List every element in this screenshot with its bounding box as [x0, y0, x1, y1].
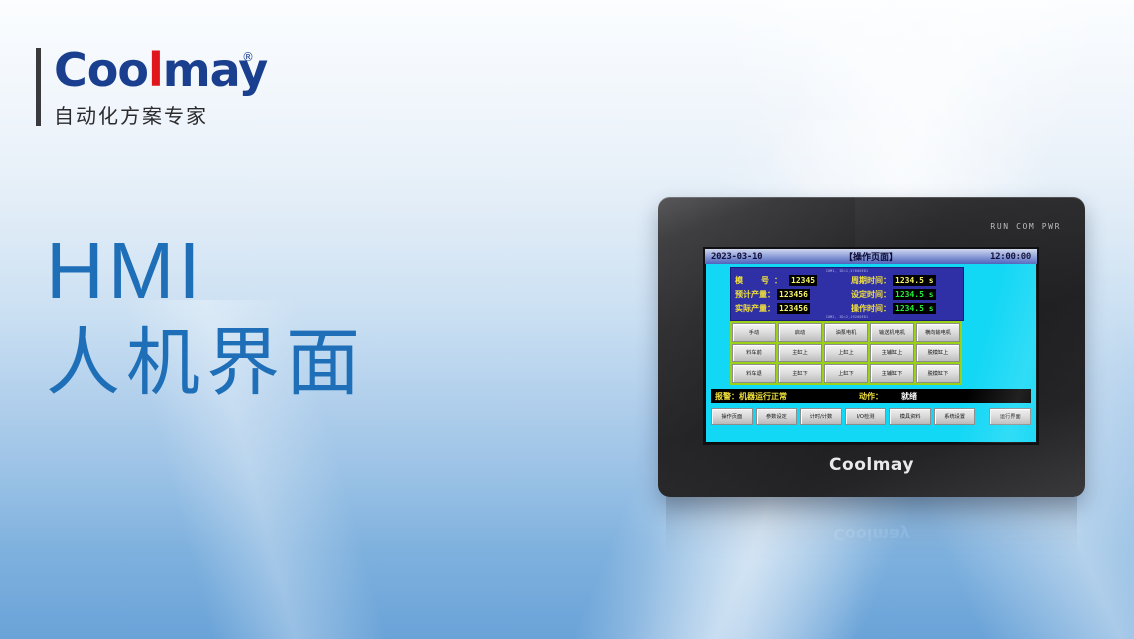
title-chinese: 人机界面 [46, 320, 366, 406]
control-button[interactable]: 横向输电机 [916, 323, 960, 342]
field-value-operation-time[interactable]: 1234.5 s [893, 303, 936, 314]
field-value-mold-no[interactable]: 12345 [789, 275, 817, 286]
action-status-value: 就绪 [901, 391, 917, 402]
control-button[interactable]: 主辅缸上 [870, 344, 914, 363]
nav-button-run-screen[interactable]: 运行界面 [989, 408, 1031, 425]
info-row: 预计产量： 123456 [735, 288, 847, 300]
hmi-info-panel: COM1, ID=1,57600E81 模 号： 12345 预计产量： 123… [730, 267, 964, 321]
field-label-planned-output: 预计产量： [735, 289, 775, 300]
info-column-right: 周期时间： 1234.5 s 设定时间： 1234.5 s 操作时间： 1234… [847, 274, 963, 314]
info-row: 模 号： 12345 [735, 274, 847, 286]
control-button[interactable]: 启动 [778, 323, 822, 342]
com2-port-label: COM2, ID=2,19200E81 [731, 315, 963, 319]
device-brand-label: Coolmay [658, 455, 1085, 475]
control-button[interactable]: 上缸下 [824, 364, 868, 383]
registered-trademark-icon: ® [242, 50, 254, 64]
hmi-device: RUN COM PWR 2023-03-10 【操作页面】 12:00:00 C… [658, 197, 1085, 497]
control-button[interactable]: 主缸上 [778, 344, 822, 363]
control-button[interactable]: 油泵电机 [824, 323, 868, 342]
control-button[interactable]: 主缸下 [778, 364, 822, 383]
hmi-screen-title: 【操作页面】 [705, 250, 1037, 263]
coolmay-logo: Coolmay ® 自动化方案专家 [36, 44, 296, 130]
info-row: 实际产量： 123456 [735, 302, 847, 314]
poster-canvas: Coolmay ® 自动化方案专家 HMI 人机界面 RUN COM PWR 2… [0, 0, 1134, 639]
info-row: 设定时间： 1234.5 s [851, 288, 963, 300]
nav-button-io-test[interactable]: I/O检测 [845, 408, 887, 425]
nav-button-mold-data[interactable]: 模具资料 [889, 408, 931, 425]
nav-button-operation[interactable]: 操作页面 [711, 408, 753, 425]
nav-button-system-settings[interactable]: 系统设置 [934, 408, 976, 425]
reflection-body [666, 497, 1077, 577]
logo-accent-bar [36, 48, 41, 126]
field-label-operation-time: 操作时间： [851, 303, 891, 314]
control-button[interactable]: 料车前 [732, 344, 776, 363]
field-value-planned-output[interactable]: 123456 [777, 289, 810, 300]
hmi-screen[interactable]: 2023-03-10 【操作页面】 12:00:00 COM1, ID=1,57… [705, 249, 1037, 443]
device-reflection: Coolmay [658, 497, 1085, 583]
logo-wordmark: Coolmay [54, 42, 267, 98]
control-button[interactable]: 料车退 [732, 364, 776, 383]
device-brand-text: Coolmay [829, 455, 914, 475]
control-button[interactable]: 脱模缸上 [916, 344, 960, 363]
field-value-actual-output[interactable]: 123456 [777, 303, 810, 314]
title-english: HMI [46, 228, 366, 314]
logo-text-red-l: l [148, 43, 163, 97]
field-label-set-time: 设定时间： [851, 289, 891, 300]
field-label-actual-output: 实际产量： [735, 303, 775, 314]
hmi-nav-bar: 操作页面 参数设定 计时/计数 I/O检测 模具资料 系统设置 运行界面 [711, 407, 1031, 425]
alarm-status-bar: 报警：机器运行正常 动作： 就绪 [711, 389, 1031, 403]
hmi-titlebar: 2023-03-10 【操作页面】 12:00:00 [705, 249, 1037, 264]
action-label: 动作： [859, 391, 883, 402]
alarm-message: 报警：机器运行正常 [715, 391, 787, 402]
control-button[interactable]: 上缸上 [824, 344, 868, 363]
field-label-cycle-time: 周期时间： [851, 275, 891, 286]
hmi-time: 12:00:00 [990, 252, 1031, 262]
field-label-mold-no: 模 号： [735, 275, 787, 286]
logo-tagline: 自动化方案专家 [54, 100, 208, 129]
page-title: HMI 人机界面 [46, 228, 366, 406]
status-led-labels: RUN COM PWR [990, 222, 1061, 231]
info-row: 周期时间： 1234.5 s [851, 274, 963, 286]
reflection-brand-text: Coolmay [658, 525, 1085, 544]
field-value-set-time[interactable]: 1234.5 s [893, 289, 936, 300]
nav-button-timer-counter[interactable]: 计时/计数 [800, 408, 842, 425]
info-column-left: 模 号： 12345 预计产量： 123456 实际产量： 123456 [731, 274, 847, 314]
control-button[interactable]: 脱模缸下 [916, 364, 960, 383]
control-button[interactable]: 输送机电机 [870, 323, 914, 342]
nav-button-parameters[interactable]: 参数设定 [756, 408, 798, 425]
field-value-cycle-time[interactable]: 1234.5 s [893, 275, 936, 286]
info-row: 操作时间： 1234.5 s [851, 302, 963, 314]
control-button[interactable]: 手动 [732, 323, 776, 342]
logo-text-part1: Coo [54, 43, 148, 97]
hmi-control-button-grid: 手动 启动 油泵电机 输送机电机 横向输电机 料车前 主缸上 上缸上 主辅缸上 … [730, 321, 962, 385]
control-button[interactable]: 主辅缸下 [870, 364, 914, 383]
com1-port-label: COM1, ID=1,57600E81 [731, 269, 963, 273]
